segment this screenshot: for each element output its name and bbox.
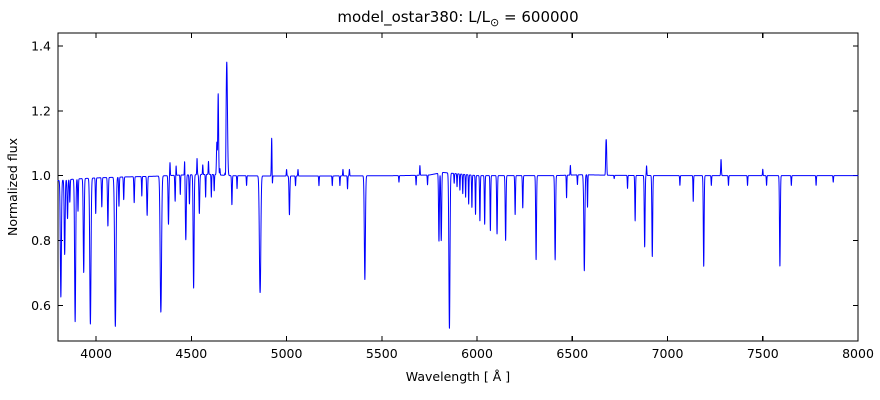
y-tick-label: 1.4 [31, 38, 51, 53]
y-tick-label: 1.0 [31, 168, 51, 183]
title-prefix: model_ostar380: L/L [337, 8, 490, 27]
spectrum-trace-group [58, 62, 858, 328]
x-tick-label: 5000 [271, 346, 303, 361]
x-tick-label: 6500 [556, 346, 588, 361]
page-title: model_ostar380: L/L⊙ = 600000 [337, 8, 578, 29]
y-tick-label: 1.2 [31, 103, 51, 118]
x-tick-label: 4500 [175, 346, 207, 361]
x-tick-label: 5500 [366, 346, 398, 361]
title-value: = 600000 [499, 8, 578, 26]
x-tick-label: 7500 [747, 346, 779, 361]
y-tick-label: 0.8 [31, 233, 51, 248]
y-axis-label: Normalized flux [5, 138, 20, 236]
x-tick-label: 4000 [80, 346, 112, 361]
plot-frame [58, 33, 858, 341]
x-tick-label: 6000 [461, 346, 493, 361]
spectrum-figure: model_ostar380: L/L⊙ = 600000 4000450050… [0, 0, 880, 400]
spectrum-plot-canvas: model_ostar380: L/L⊙ = 600000 4000450050… [0, 0, 880, 400]
sun-symbol-icon: ⊙ [490, 16, 499, 29]
x-axis-label: Wavelength [ Å ] [406, 369, 510, 384]
x-tick-label: 8000 [842, 346, 874, 361]
spectrum-line [58, 62, 858, 328]
y-tick-label: 0.6 [31, 298, 51, 313]
x-tick-label: 7000 [652, 346, 684, 361]
